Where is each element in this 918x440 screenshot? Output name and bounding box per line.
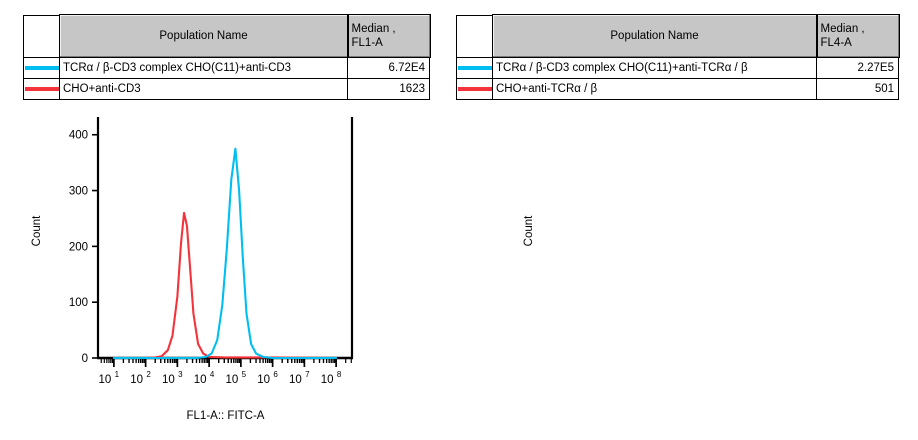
- svg-text:5: 5: [242, 370, 247, 379]
- svg-text:1: 1: [115, 370, 120, 379]
- svg-text:10: 10: [225, 374, 238, 386]
- population-name-cell: TCRα / β-CD3 complex CHO(C11)+anti-CD3: [60, 57, 348, 79]
- svg-text:200: 200: [69, 241, 88, 253]
- series-color-swatch: [25, 87, 59, 91]
- median-label-line1: Median ,: [821, 23, 865, 35]
- median-value-cell: 1623: [348, 79, 430, 100]
- median-label-line2: FL4-A: [821, 36, 895, 50]
- svg-text:100: 100: [69, 297, 88, 309]
- table-row[interactable]: CHO+anti-TCRα / β 501: [457, 79, 899, 100]
- column-header-population-name: Population Name: [60, 15, 348, 57]
- x-axis-title: FL1-A:: FITC-A: [98, 410, 353, 422]
- table-row[interactable]: TCRα / β-CD3 complex CHO(C11)+anti-TCRα …: [457, 57, 899, 79]
- svg-text:10: 10: [194, 374, 207, 386]
- svg-text:2: 2: [146, 370, 151, 379]
- median-label-line2: FL1-A: [352, 36, 426, 50]
- svg-text:10: 10: [98, 374, 111, 386]
- histogram-plot[interactable]: 0100200300400101102103104105106107108: [0, 105, 459, 395]
- table-header-row: Population Name Median , FL4-A: [457, 15, 899, 57]
- y-axis-title: Count: [31, 201, 43, 261]
- svg-text:4: 4: [210, 370, 215, 379]
- population-name-cell: CHO+anti-TCRα / β: [493, 79, 817, 100]
- legend-swatch-cell: [457, 79, 493, 100]
- median-label-line1: Median ,: [352, 23, 396, 35]
- table-header-row: Population Name Median , FL1-A: [24, 15, 430, 57]
- column-header-legend-swatch: [457, 15, 493, 57]
- legend-swatch-cell: [457, 57, 493, 79]
- svg-text:10: 10: [130, 374, 143, 386]
- population-name-cell: TCRα / β-CD3 complex CHO(C11)+anti-TCRα …: [493, 57, 817, 79]
- column-header-population-name: Population Name: [493, 15, 817, 57]
- column-header-median: Median , FL4-A: [817, 15, 899, 57]
- svg-text:10: 10: [289, 374, 302, 386]
- median-value-cell: 501: [817, 79, 899, 100]
- panel-fl4a: Population Name Median , FL4-A TCRα / β-…: [459, 0, 918, 440]
- population-name-cell: CHO+anti-CD3: [60, 79, 348, 100]
- column-header-median: Median , FL1-A: [348, 15, 430, 57]
- series-color-swatch: [25, 66, 59, 70]
- svg-text:8: 8: [337, 370, 342, 379]
- svg-text:6: 6: [273, 370, 278, 379]
- table-row[interactable]: TCRα / β-CD3 complex CHO(C11)+anti-CD3 6…: [24, 57, 430, 79]
- median-value-cell: 6.72E4: [348, 57, 430, 79]
- svg-text:3: 3: [178, 370, 183, 379]
- svg-text:7: 7: [305, 370, 310, 379]
- series-color-swatch: [458, 66, 492, 70]
- population-statistics-table: Population Name Median , FL4-A TCRα / β-…: [456, 14, 900, 100]
- histogram-chart-fl1a: 0100200300400101102103104105106107108: [0, 105, 459, 395]
- table-row[interactable]: CHO+anti-CD3 1623: [24, 79, 430, 100]
- series-color-swatch: [458, 87, 492, 91]
- median-value-cell: 2.27E5: [817, 57, 899, 79]
- svg-text:10: 10: [257, 374, 270, 386]
- y-axis-title: Count: [523, 201, 535, 261]
- svg-text:400: 400: [69, 130, 88, 142]
- panel-fl1a: Population Name Median , FL1-A TCRα / β-…: [0, 0, 459, 440]
- svg-text:10: 10: [162, 374, 175, 386]
- column-header-legend-swatch: [24, 15, 60, 57]
- svg-text:0: 0: [82, 353, 88, 365]
- population-statistics-table: Population Name Median , FL1-A TCRα / β-…: [23, 14, 431, 100]
- legend-swatch-cell: [24, 57, 60, 79]
- legend-swatch-cell: [24, 79, 60, 100]
- svg-text:300: 300: [69, 186, 88, 198]
- svg-text:10: 10: [321, 374, 334, 386]
